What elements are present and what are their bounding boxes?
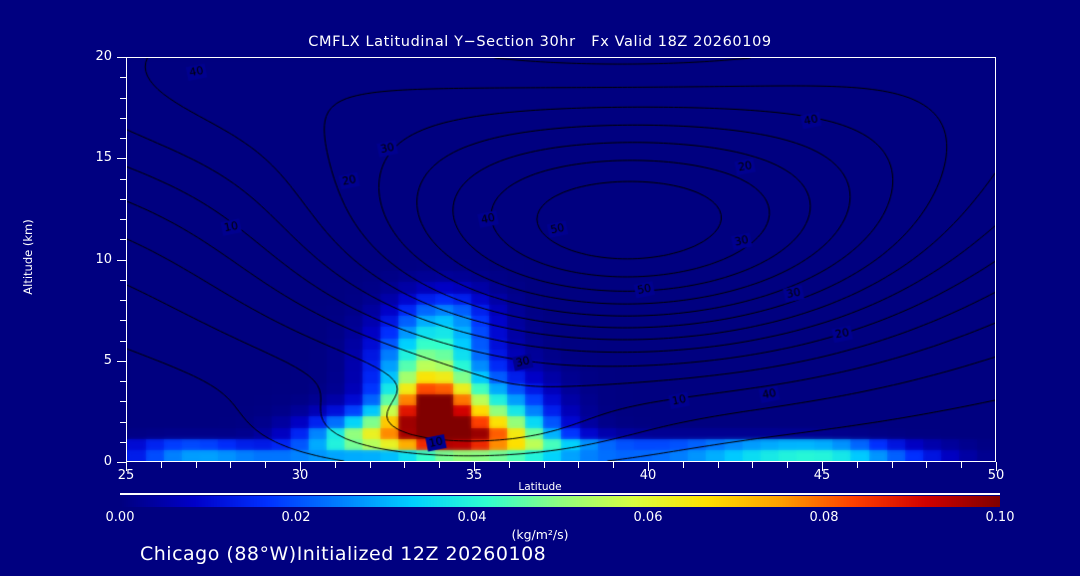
cross-section-field: [127, 58, 995, 461]
x-tick: [404, 462, 405, 468]
y-tick: [117, 361, 126, 362]
y-axis-label: Altitude (km): [21, 197, 35, 317]
y-tick: [120, 239, 126, 240]
y-tick: [120, 138, 126, 139]
x-tick-label: 45: [802, 468, 842, 483]
y-tick-label: 5: [76, 353, 112, 368]
y-tick: [120, 118, 126, 119]
x-tick-label: 25: [106, 468, 146, 483]
colorbar: [120, 496, 1000, 507]
chart-title: CMFLX Latitudinal Y−Section 30hr Fx Vali…: [0, 34, 1080, 50]
x-tick: [961, 462, 962, 468]
y-tick: [120, 320, 126, 321]
x-tick: [752, 462, 753, 468]
y-tick: [120, 401, 126, 402]
y-tick-label: 20: [76, 49, 112, 64]
x-tick-label: 40: [628, 468, 668, 483]
y-tick-label: 10: [76, 252, 112, 267]
y-tick: [120, 219, 126, 220]
x-tick: [335, 462, 336, 468]
y-tick: [120, 179, 126, 180]
colorbar-units: (kg/m²/s): [0, 527, 1080, 542]
colorbar-tick-label: 0.00: [90, 510, 150, 525]
x-tick: [196, 462, 197, 468]
x-tick: [892, 462, 893, 468]
figure-caption: Chicago (88°W)Initialized 12Z 20260108: [140, 543, 546, 565]
x-axis-label: Latitude: [0, 481, 1080, 493]
colorbar-tick-label: 0.04: [442, 510, 502, 525]
x-tick: [683, 462, 684, 468]
y-tick-label: 15: [76, 150, 112, 165]
chart-figure: CMFLX Latitudinal Y−Section 30hr Fx Vali…: [0, 0, 1080, 576]
plot-area: [126, 57, 996, 462]
colorbar-rule: [120, 493, 1000, 495]
x-tick: [718, 462, 719, 468]
x-tick-label: 35: [454, 468, 494, 483]
y-tick-label: 0: [76, 454, 112, 469]
x-tick: [370, 462, 371, 468]
y-tick: [117, 57, 126, 58]
y-tick: [120, 381, 126, 382]
colorbar-tick-label: 0.02: [266, 510, 326, 525]
x-tick: [439, 462, 440, 468]
y-tick: [120, 199, 126, 200]
x-tick: [265, 462, 266, 468]
colorbar-tick-label: 0.08: [794, 510, 854, 525]
y-tick: [120, 422, 126, 423]
x-tick: [578, 462, 579, 468]
x-tick: [857, 462, 858, 468]
x-tick: [787, 462, 788, 468]
x-tick: [161, 462, 162, 468]
y-tick: [120, 280, 126, 281]
x-tick-label: 30: [280, 468, 320, 483]
y-tick: [117, 462, 126, 463]
colorbar-tick-label: 0.06: [618, 510, 678, 525]
y-tick: [120, 341, 126, 342]
y-tick: [120, 77, 126, 78]
x-tick: [613, 462, 614, 468]
y-tick: [117, 158, 126, 159]
y-tick: [120, 98, 126, 99]
x-tick: [509, 462, 510, 468]
x-tick-label: 50: [976, 468, 1016, 483]
y-tick: [120, 300, 126, 301]
colorbar-tick-label: 0.10: [970, 510, 1030, 525]
x-tick: [230, 462, 231, 468]
y-tick: [117, 260, 126, 261]
y-tick: [120, 442, 126, 443]
x-tick: [926, 462, 927, 468]
x-tick: [544, 462, 545, 468]
